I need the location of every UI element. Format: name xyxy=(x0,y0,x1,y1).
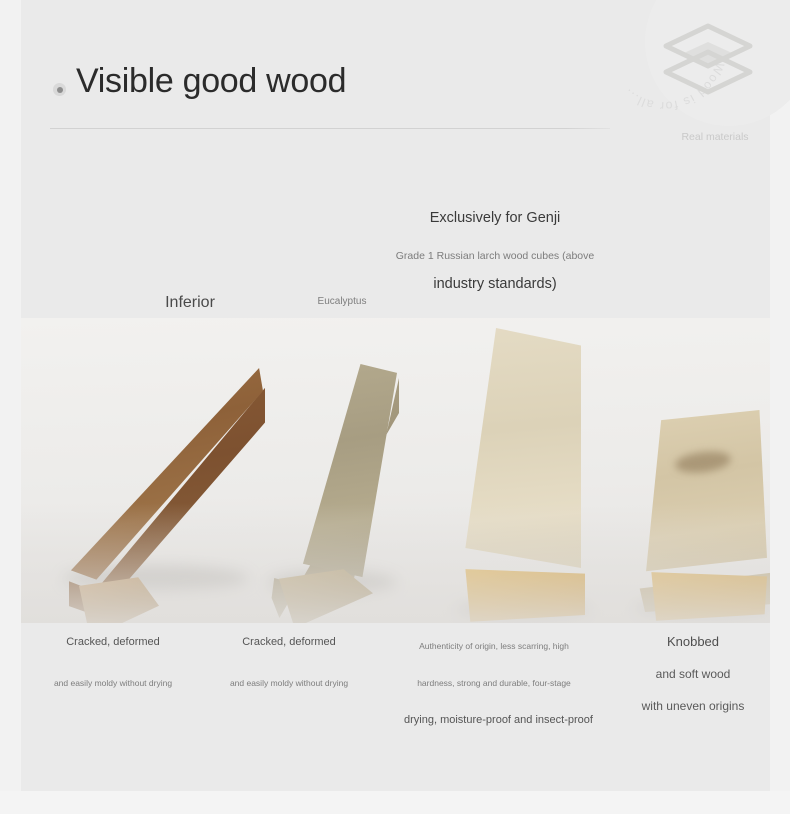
wood-sample-local-pine xyxy=(623,402,770,623)
specimen-4-caption: Knobbed and soft wood with uneven origin… xyxy=(603,631,783,717)
specimen-4-caption-line-1: Knobbed xyxy=(603,631,783,653)
specimen-1-caption-line-2: and easily moldy without drying xyxy=(23,672,203,694)
lead-line-2: Grade 1 Russian larch wood cubes (above xyxy=(370,248,620,264)
brand-subtitle: Real materials xyxy=(665,131,765,143)
wood-sample-miscellaneous xyxy=(57,358,267,623)
sample-4-top-face xyxy=(641,410,767,578)
specimen-3-caption: Authenticity of origin, less scarring, h… xyxy=(404,635,584,731)
lead-line-3: industry standards) xyxy=(370,274,620,294)
specimen-2-caption-line-2: and easily moldy without drying xyxy=(199,672,379,694)
page-left-margin xyxy=(0,0,21,791)
page-title: Visible good wood xyxy=(76,58,346,104)
header-divider xyxy=(50,128,610,129)
specimen-2-subtitle: Eucalyptus xyxy=(252,294,432,310)
wood-sample-eucalyptus xyxy=(265,356,405,623)
specimen-photo-stage xyxy=(21,318,770,623)
lead-line-1: Exclusively for Genji xyxy=(370,208,620,228)
specimen-3-caption-line-3: drying, moisture-proof and insect-proof xyxy=(404,709,584,731)
sample-2-end-grain xyxy=(275,568,373,623)
specimen-3-caption-line-1: Authenticity of origin, less scarring, h… xyxy=(404,635,584,657)
sample-2-top-face xyxy=(301,364,397,586)
lead-copy: Exclusively for Genji Grade 1 Russian la… xyxy=(370,208,620,294)
specimen-3-caption-line-2: hardness, strong and durable, four-stage xyxy=(404,672,584,694)
wood-sample-russian-larch xyxy=(451,318,601,623)
stacked-layers-icon xyxy=(660,22,756,98)
specimen-1-caption-line-1: Cracked, deformed xyxy=(23,631,203,653)
product-detail-page: Visible good wood Wood is for all... Rea… xyxy=(0,0,790,814)
specimen-2-caption-line-1: Cracked, deformed xyxy=(199,631,379,653)
sample-3-shadow xyxy=(455,600,591,622)
sample-4-end-grain xyxy=(649,570,767,623)
specimen-4-caption-line-3: with uneven origins xyxy=(603,695,783,717)
dot-icon xyxy=(53,83,66,96)
sample-3-top-face xyxy=(463,328,581,578)
sample-1-shadow xyxy=(63,566,249,592)
sample-1-end-grain xyxy=(79,576,159,623)
page-bottom-margin xyxy=(0,791,790,814)
sample-1-top-face xyxy=(67,368,263,598)
specimen-4-caption-line-2: and soft wood xyxy=(603,663,783,685)
specimen-1-caption: Cracked, deformed and easily moldy witho… xyxy=(23,631,203,694)
sample-3-end-grain xyxy=(463,568,585,623)
sample-2-shadow xyxy=(267,571,397,595)
specimen-2-caption: Cracked, deformed and easily moldy witho… xyxy=(199,631,379,694)
sample-4-shadow xyxy=(633,598,770,620)
